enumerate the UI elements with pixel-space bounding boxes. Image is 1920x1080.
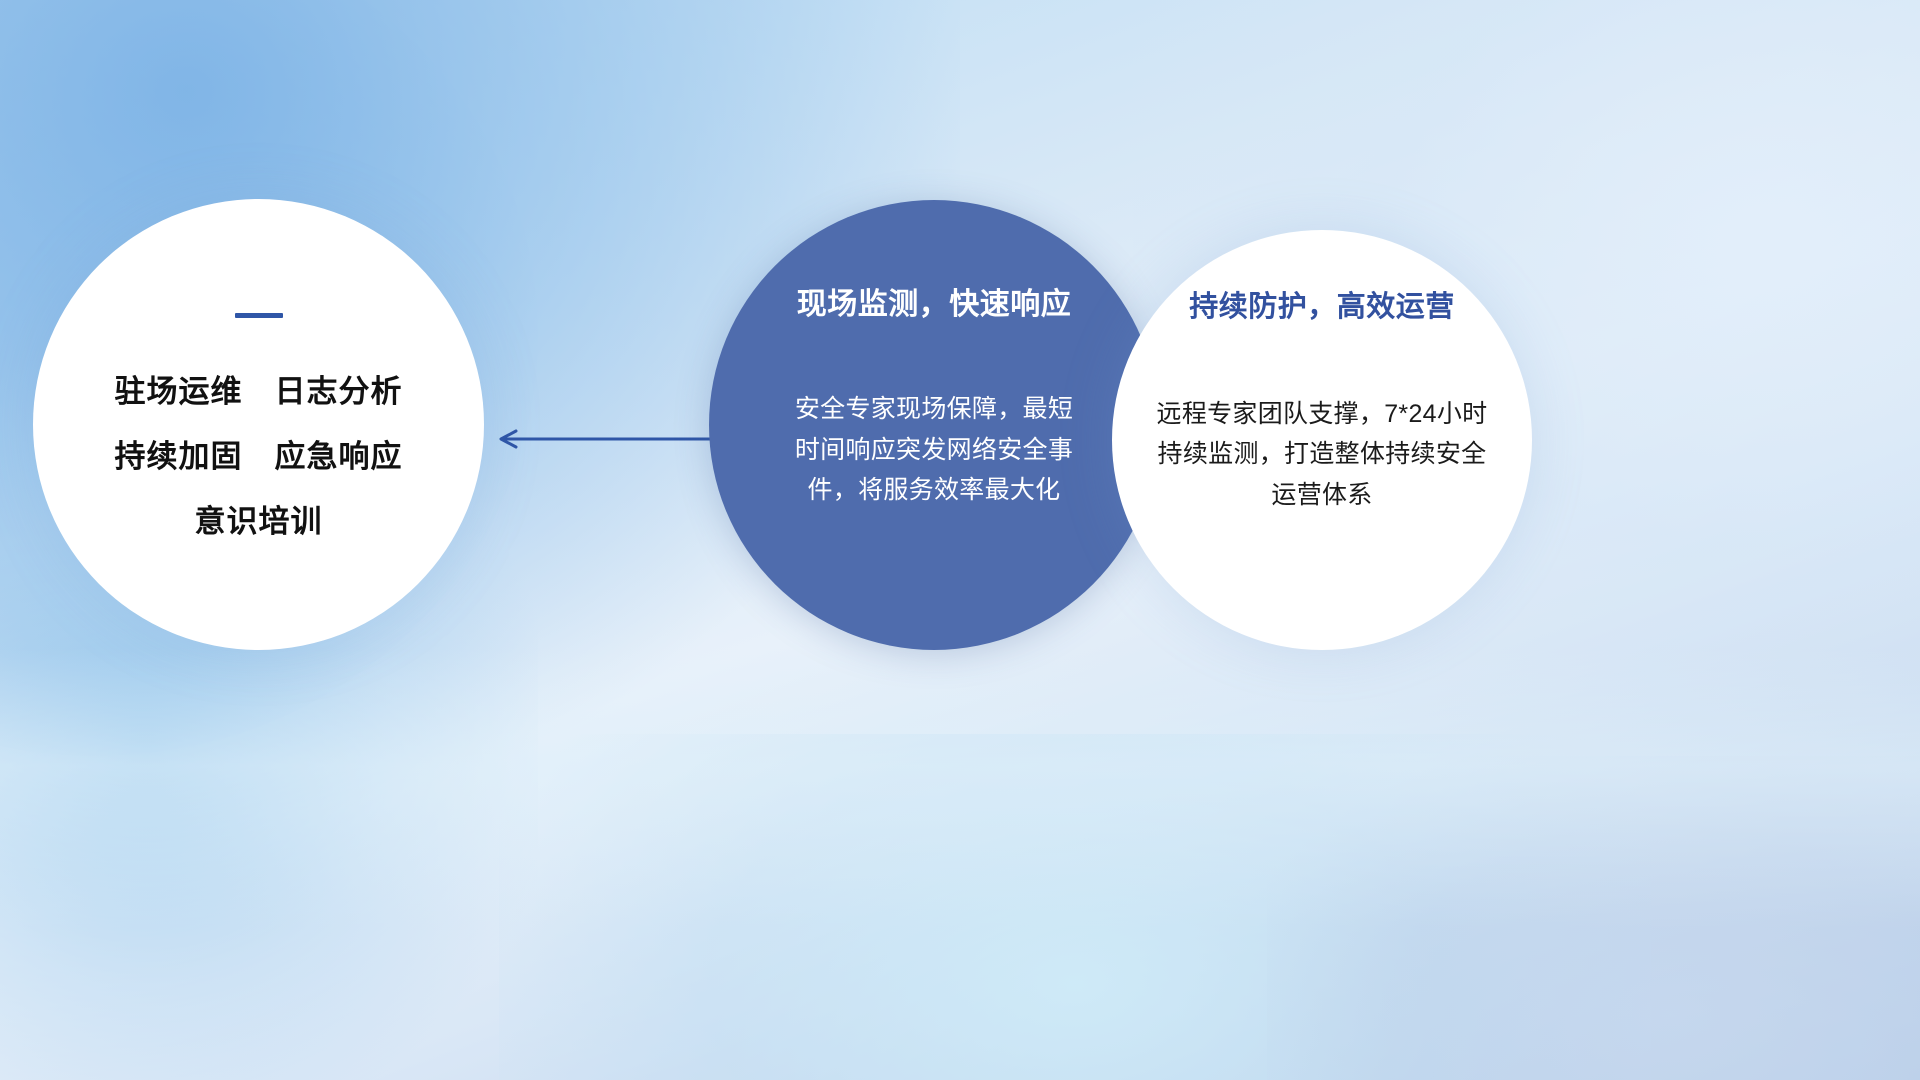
right-circle-body: 远程专家团队支撑，7*24小时持续监测，打造整体持续安全运营体系 xyxy=(1156,394,1488,516)
left-capability-circle[interactable]: 驻场运维 日志分析 持续加固 应急响应 意识培训 xyxy=(33,199,484,650)
middle-circle-body: 安全专家现场保障，最短时间响应突发网络安全事件，将服务效率最大化 xyxy=(791,389,1077,511)
left-circle-line-1: 驻场运维 日志分析 xyxy=(61,376,456,407)
middle-circle-content: 现场监测，快速响应 安全专家现场保障，最短时间响应突发网络安全事件，将服务效率最… xyxy=(709,200,1159,511)
arrow-left-icon xyxy=(490,424,712,454)
right-circle-title: 持续防护，高效运营 xyxy=(1150,292,1494,324)
diagram-stage: 驻场运维 日志分析 持续加固 应急响应 意识培训 现场监测，快速响应 安全专家现… xyxy=(0,0,1920,1080)
right-circle-content: 持续防护，高效运营 远程专家团队支撑，7*24小时持续监测，打造整体持续安全运营… xyxy=(1112,230,1532,515)
left-circle-content: 驻场运维 日志分析 持续加固 应急响应 意识培训 xyxy=(33,313,484,537)
middle-onsite-circle[interactable]: 现场监测，快速响应 安全专家现场保障，最短时间响应突发网络安全事件，将服务效率最… xyxy=(709,200,1159,650)
left-circle-line-2: 持续加固 应急响应 xyxy=(61,441,456,472)
left-circle-line-3: 意识培训 xyxy=(61,506,456,537)
right-operations-circle[interactable]: 持续防护，高效运营 远程专家团队支撑，7*24小时持续监测，打造整体持续安全运营… xyxy=(1112,230,1532,650)
middle-circle-title: 现场监测，快速响应 xyxy=(769,288,1099,321)
divider-dash-icon xyxy=(235,313,283,318)
